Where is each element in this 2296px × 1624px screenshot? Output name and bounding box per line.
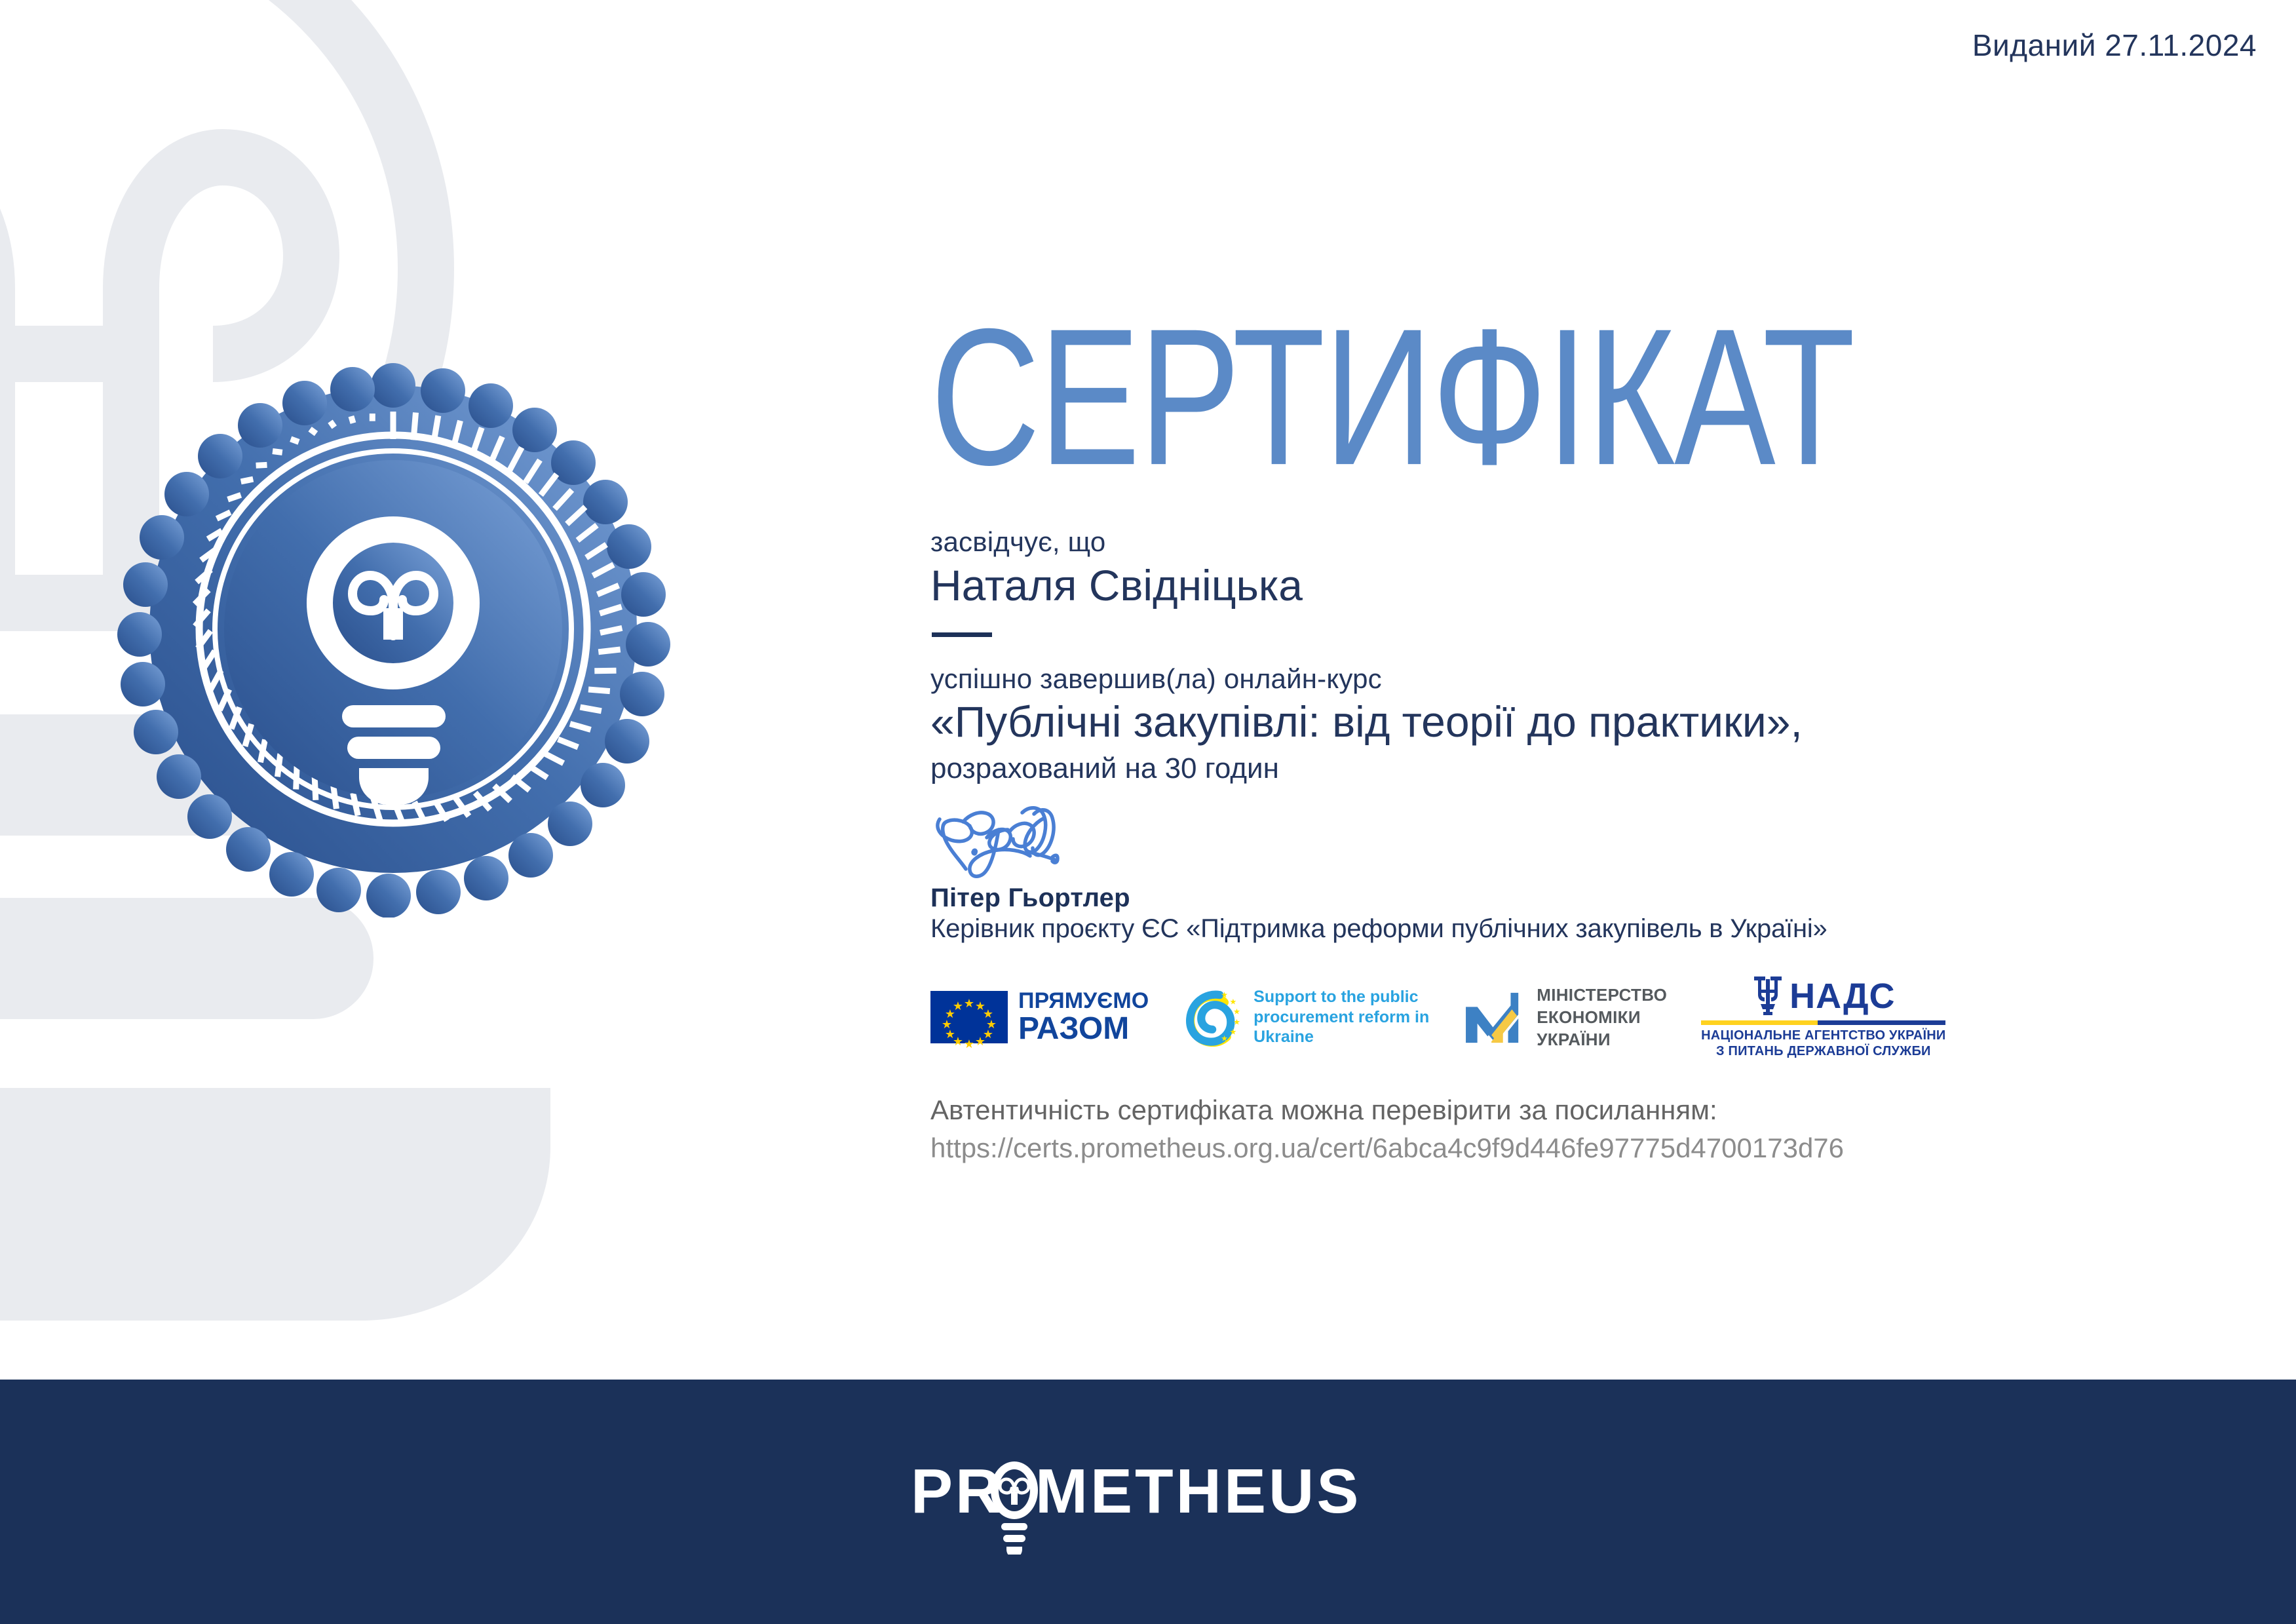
logo-ministry-economy: МІНІСТЕРСТВО ЕКОНОМІКИ УКРАЇНИ [1463,984,1667,1051]
recipient-name: Наталя Свідніцька [930,562,2267,610]
certificate-content: СЕРТИФІКАТ засвідчує, що Наталя Свідніць… [930,308,2267,1164]
support-logo-line2: procurement reform in [1253,1007,1429,1028]
support-logo-line1: Support to the public [1253,987,1429,1007]
svg-text:★: ★ [1230,997,1237,1006]
logo-support-procurement: ★★ ★★ ★★ Support to the public procureme… [1183,986,1429,1048]
ukraine-trident-icon [1751,975,1784,1017]
svg-text:METHEUS: METHEUS [1035,1456,1361,1526]
eu-logo-line2: РАЗОМ [1018,1013,1149,1045]
certificate-page: Виданий 27.11.2024 [0,0,2296,1624]
completion-label: успішно завершив(ла) онлайн-курс [930,663,2267,695]
verification-text: Автентичність сертифіката можна перевіри… [930,1094,2267,1126]
support-logo-line3: Ukraine [1253,1027,1429,1047]
svg-text:★: ★ [1221,990,1228,999]
signature-image [930,801,1258,880]
svg-text:★: ★ [1230,1027,1237,1036]
logo-eu-together: ★ ★ ★ ★ ★ ★ ★ ★ ★ ★ ★ ★ ПРЯМУЄМО РАЗОМ [930,990,1149,1045]
eu-flag-icon: ★ ★ ★ ★ ★ ★ ★ ★ ★ ★ ★ ★ [930,991,1008,1043]
certificate-seal-icon [105,341,681,918]
nads-sub-line1: НАЦІОНАЛЬНЕ АГЕНТСТВО УКРАЇНИ [1701,1028,1945,1043]
logo-nads: НАДС НАЦІОНАЛЬНЕ АГЕНТСТВО УКРАЇНИ З ПИТ… [1701,975,1945,1060]
signatory-name: Пітер Гьортлер [930,883,2267,913]
nads-sub-line2: З ПИТАНЬ ДЕРЖАВНОЇ СЛУЖБИ [1701,1043,1945,1059]
ministry-logo-line2: ЕКОНОМІКИ [1537,1006,1667,1028]
eu-logo-line1: ПРЯМУЄМО [1018,990,1149,1012]
course-duration: розрахований на 30 годин [930,752,2267,785]
attests-label: засвідчує, що [930,526,2267,558]
svg-text:★: ★ [1233,1007,1240,1016]
procurement-spiral-icon: ★★ ★★ ★★ [1183,986,1244,1048]
svg-text:★: ★ [1221,1034,1228,1043]
page-title: СЕРТИФІКАТ [930,308,2267,487]
verification-block: Автентичність сертифіката можна перевіри… [930,1094,2267,1164]
svg-text:PR: PR [911,1456,1003,1526]
name-divider [932,632,992,637]
course-block: успішно завершив(ла) онлайн-курс «Публіч… [930,663,2267,784]
ministry-m-icon [1463,989,1527,1045]
footer-bar: PR METHEUS [0,1380,2296,1624]
nads-rule [1701,1020,1945,1025]
issue-date: Виданий 27.11.2024 [1972,28,2257,63]
ministry-logo-line1: МІНІСТЕРСТВО [1537,984,1667,1006]
svg-text:★: ★ [1233,1017,1240,1026]
partner-logos: ★ ★ ★ ★ ★ ★ ★ ★ ★ ★ ★ ★ ПРЯМУЄМО РАЗОМ [930,975,2267,1060]
nads-wordmark: НАДС [1789,978,1895,1014]
course-title: «Публічні закупівлі: від теорії до практ… [930,697,1803,746]
ministry-logo-line3: УКРАЇНИ [1537,1028,1667,1051]
verification-url[interactable]: https://certs.prometheus.org.ua/cert/6ab… [930,1132,2267,1164]
signatory-role: Керівник проєкту ЄС «Підтримка реформи п… [930,914,2267,944]
prometheus-logo: PR METHEUS [899,1450,1397,1555]
